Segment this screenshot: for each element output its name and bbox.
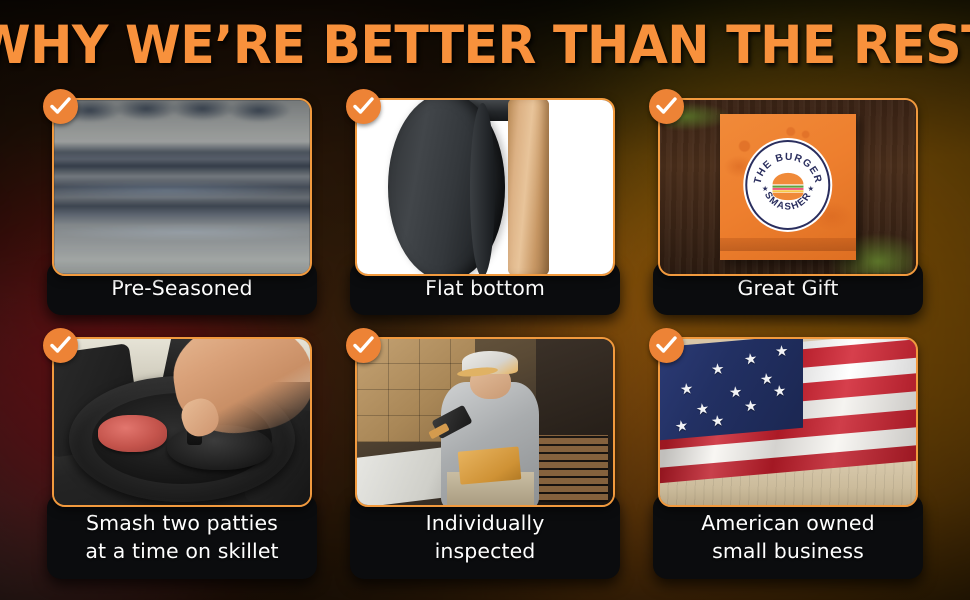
- pallet-stack: [531, 435, 608, 501]
- card-image: THE BURGER SMASHER: [658, 98, 918, 276]
- card-image: ★ ★ ★ ★ ★ ★ ★ ★ ★ ★ ★: [658, 337, 918, 507]
- burger-patty: [98, 415, 167, 452]
- feature-card-american-owned[interactable]: American owned small business ★ ★ ★ ★ ★ …: [658, 337, 918, 579]
- svg-text:★: ★: [808, 184, 815, 193]
- feature-card-pre-seasoned[interactable]: Pre-Seasoned: [52, 98, 312, 315]
- cast-iron-texture-photo: [54, 100, 310, 274]
- feature-card-flat-bottom[interactable]: Flat bottom: [355, 98, 615, 315]
- card-caption: Individually inspected: [420, 509, 551, 565]
- flag-star-icon: ★: [772, 383, 787, 399]
- card-caption: American owned small business: [695, 509, 880, 565]
- burger-press-photo: [357, 100, 613, 274]
- card-caption: Flat bottom: [419, 275, 551, 302]
- card-image: [355, 337, 615, 507]
- warehouse-inspection-photo: [357, 339, 613, 505]
- card-image: [52, 98, 312, 276]
- flag-star-icon: ★: [743, 351, 758, 368]
- gift-box-photo: THE BURGER SMASHER: [660, 100, 916, 274]
- brand-logo: THE BURGER SMASHER: [745, 140, 830, 230]
- card-caption: Great Gift: [731, 275, 844, 302]
- caption-line-1: American owned: [701, 511, 874, 535]
- caption-line-2: small business: [712, 539, 864, 563]
- check-icon: [649, 89, 684, 124]
- product-box: [458, 446, 522, 484]
- product-box: THE BURGER SMASHER: [720, 114, 856, 260]
- caption-line-2: at a time on skillet: [85, 539, 278, 563]
- card-image: [355, 98, 615, 276]
- box-seam: [720, 238, 856, 251]
- check-icon: [649, 328, 684, 363]
- american-flag-photo: ★ ★ ★ ★ ★ ★ ★ ★ ★ ★ ★: [660, 339, 916, 505]
- flag-star-icon: ★: [711, 362, 725, 378]
- flag-star-icon: ★: [775, 344, 789, 360]
- feature-card-smash-two-patties[interactable]: Smash two patties at a time on skillet: [52, 337, 312, 579]
- caption-line-2: inspected: [435, 539, 536, 563]
- press-disc-rim: [470, 103, 496, 276]
- svg-text:★: ★: [762, 184, 769, 193]
- feature-grid: Pre-Seasoned Flat bottom: [52, 98, 918, 579]
- flag-star-icon: ★: [680, 381, 695, 397]
- feature-card-individually-inspected[interactable]: Individually inspected: [355, 337, 615, 579]
- check-icon: [43, 89, 78, 124]
- page-title: WHY WE’RE BETTER THAN THE REST: [0, 17, 970, 75]
- card-caption: Pre-Seasoned: [105, 275, 258, 302]
- check-icon: [346, 89, 381, 124]
- feature-card-great-gift[interactable]: Great Gift: [658, 98, 918, 315]
- caption-line-1: Individually: [426, 511, 545, 535]
- check-icon: [43, 328, 78, 363]
- check-icon: [346, 328, 381, 363]
- caption-line-1: Smash two patties: [86, 511, 278, 535]
- wooden-handle: [508, 98, 549, 276]
- flag-star-icon: ★: [728, 385, 743, 401]
- flag-star-icon: ★: [695, 401, 711, 418]
- skillet-smash-photo: [54, 339, 310, 505]
- flag-star-icon: ★: [710, 413, 725, 429]
- promo-banner: WHY WE’RE BETTER THAN THE REST Pre-Seaso…: [0, 0, 970, 600]
- card-image: [52, 337, 312, 507]
- flag-star-icon: ★: [744, 398, 758, 414]
- card-caption: Smash two patties at a time on skillet: [79, 509, 284, 565]
